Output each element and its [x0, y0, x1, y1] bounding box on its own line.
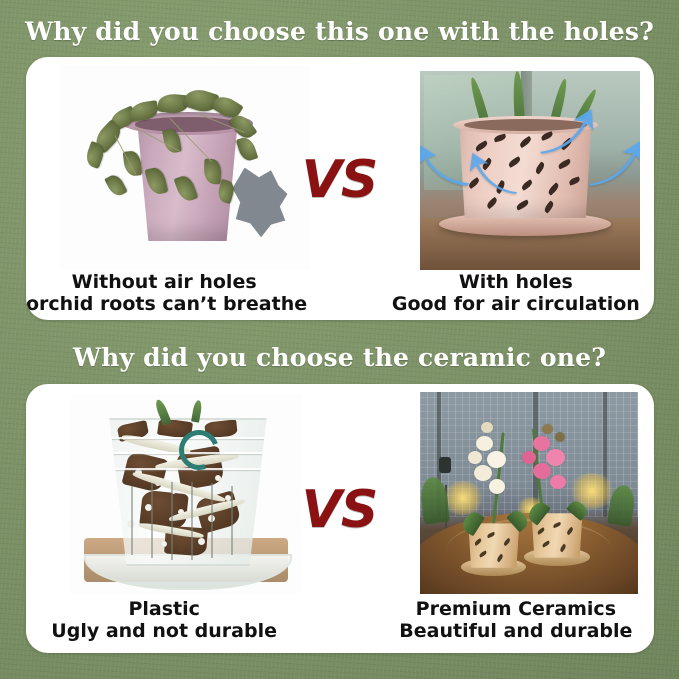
drainage-slot — [151, 483, 153, 558]
airflow-arrow-icon — [587, 139, 640, 187]
drainage-slot — [211, 483, 213, 558]
versus-badge-1: VS — [302, 150, 378, 210]
orchid-bud — [481, 422, 493, 433]
pot-rib — [104, 468, 271, 470]
caption-line-1: Plastic — [128, 598, 199, 620]
caption-ceramic: Premium Ceramics Beautiful and durable — [378, 598, 654, 642]
section-1-heading: Why did you choose this one with the hol… — [0, 17, 679, 46]
caption-line-2: Ugly and not durable — [26, 620, 302, 642]
photo-premium-ceramic-pots — [420, 392, 638, 594]
photo-plastic-slotted-pot — [70, 394, 302, 594]
white-orchid-bloom — [487, 451, 506, 468]
bark-chip — [121, 450, 168, 493]
comparison-item-ceramic: Premium Ceramics Beautiful and durable — [378, 384, 654, 653]
perlite-speck — [215, 475, 221, 481]
caption-without-holes: Without air holes orchid roots can’t bre… — [26, 271, 302, 315]
infographic-page: Why did you choose this one with the hol… — [0, 0, 679, 679]
drainage-slot — [231, 486, 233, 555]
comparison-item-with-holes: With holes Good for air circulation — [378, 57, 654, 320]
section-2-heading: Why did you choose the ceramic one? — [0, 343, 679, 372]
caption-plastic: Plastic Ugly and not durable — [26, 598, 302, 642]
photo-wilted-orchid-solid-pot — [60, 65, 310, 270]
caption-line-2: orchid roots can’t breathe — [26, 293, 302, 315]
drainage-slot — [171, 482, 173, 560]
caption-line-1: Premium Ceramics — [416, 598, 616, 620]
comparison-item-without-holes: Without air holes orchid roots can’t bre… — [26, 57, 302, 320]
caption-line-1: Without air holes — [72, 271, 257, 293]
caption-line-2: Good for air circulation — [378, 293, 654, 315]
garden-lantern — [439, 457, 451, 473]
drainage-slot — [131, 486, 133, 555]
caption-with-holes: With holes Good for air circulation — [378, 271, 654, 315]
pink-orchid-bloom — [533, 463, 551, 479]
airflow-arrow-icon — [468, 151, 521, 195]
airflow-arrow-icon — [420, 143, 473, 187]
pink-orchid-bloom — [546, 449, 565, 466]
caption-line-2: Beautiful and durable — [378, 620, 654, 642]
versus-badge-2: VS — [302, 480, 378, 540]
comparison-item-plastic: Plastic Ugly and not durable — [26, 384, 302, 653]
drainage-slot — [191, 482, 193, 560]
caption-line-1: With holes — [459, 271, 573, 293]
photo-cutout-pot-airflow — [420, 71, 640, 270]
white-orchid-bloom — [474, 465, 492, 481]
pink-orchid-bloom — [522, 451, 536, 464]
white-orchid-bloom — [468, 451, 482, 464]
